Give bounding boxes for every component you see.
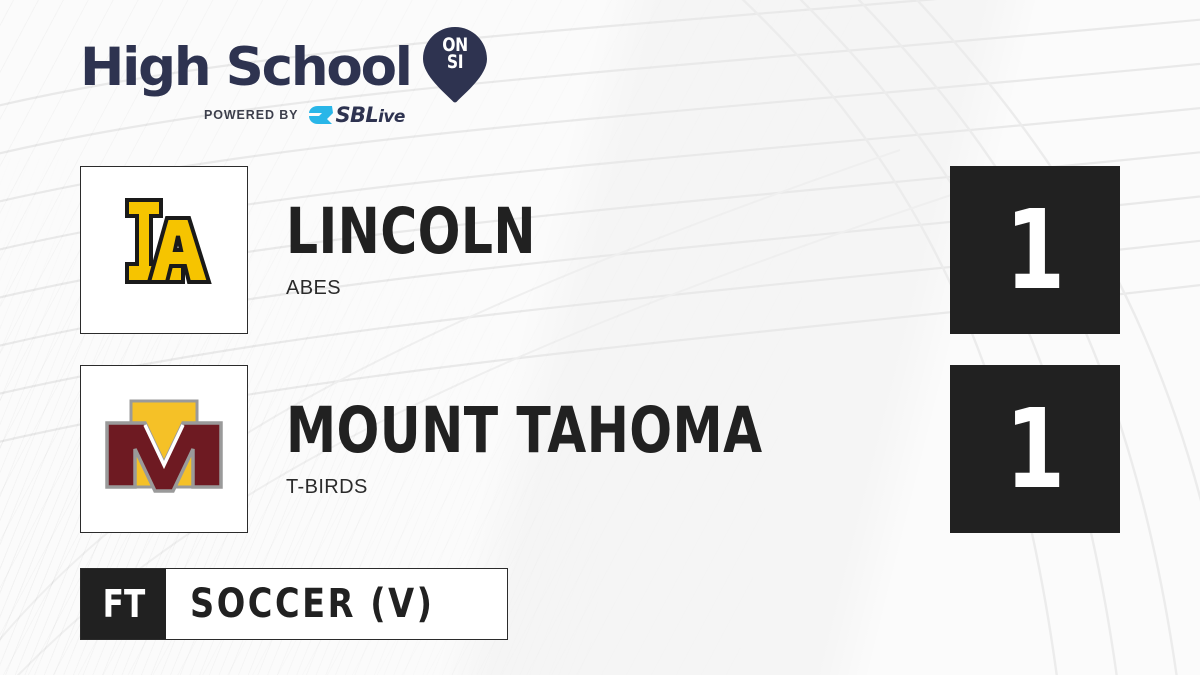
team-text-block: MOUNT TAHOMA T-BIRDS	[286, 365, 882, 533]
team-logo-tile	[80, 166, 248, 334]
team-logo-tile	[80, 365, 248, 533]
sblive-logo: SBLive	[308, 104, 404, 126]
brand-title: High School	[80, 41, 411, 94]
team-text-block: LINCOLN ABES	[286, 166, 598, 334]
team-nickname: T-BIRDS	[286, 476, 882, 499]
mount-tahoma-tm-monogram-icon	[101, 393, 227, 505]
on-si-pin-label: ON SI	[429, 37, 481, 71]
game-status-code-label: FT	[102, 585, 145, 623]
lincoln-la-monogram-icon	[109, 190, 219, 310]
powered-by-label: POWERED BY	[204, 108, 298, 122]
on-si-pin-icon: ON SI	[423, 27, 487, 103]
game-sport-text: SOCCER (V)	[190, 584, 435, 624]
sblive-name-light: ive	[378, 107, 405, 127]
pin-line-si: SI	[429, 54, 481, 71]
team-score-value: 1	[1005, 195, 1065, 305]
brand-header: High School ON SI POWERED BY SBLive	[80, 36, 640, 136]
team-row: LINCOLN ABES 1	[80, 166, 1120, 334]
scorecard-graphic: High School ON SI POWERED BY SBLive	[0, 0, 1200, 675]
team-score-box: 1	[950, 166, 1120, 334]
team-name: MOUNT TAHOMA	[286, 399, 763, 462]
game-status-bar: FT SOCCER (V)	[80, 568, 508, 640]
sblive-wordmark: SBLive	[335, 105, 404, 126]
sblive-s-mark-icon	[308, 104, 334, 126]
team-score-box: 1	[950, 365, 1120, 533]
team-nickname: ABES	[286, 277, 598, 300]
game-status-code: FT	[81, 569, 166, 639]
powered-by-row: POWERED BY SBLive	[204, 104, 640, 126]
sblive-name-bold: SBL	[335, 103, 378, 127]
brand-wordmark: High School ON SI	[80, 36, 640, 98]
game-sport-label: SOCCER (V)	[166, 569, 507, 639]
team-score-value: 1	[1005, 394, 1065, 504]
team-row: MOUNT TAHOMA T-BIRDS 1	[80, 365, 1120, 533]
team-name: LINCOLN	[286, 200, 536, 263]
